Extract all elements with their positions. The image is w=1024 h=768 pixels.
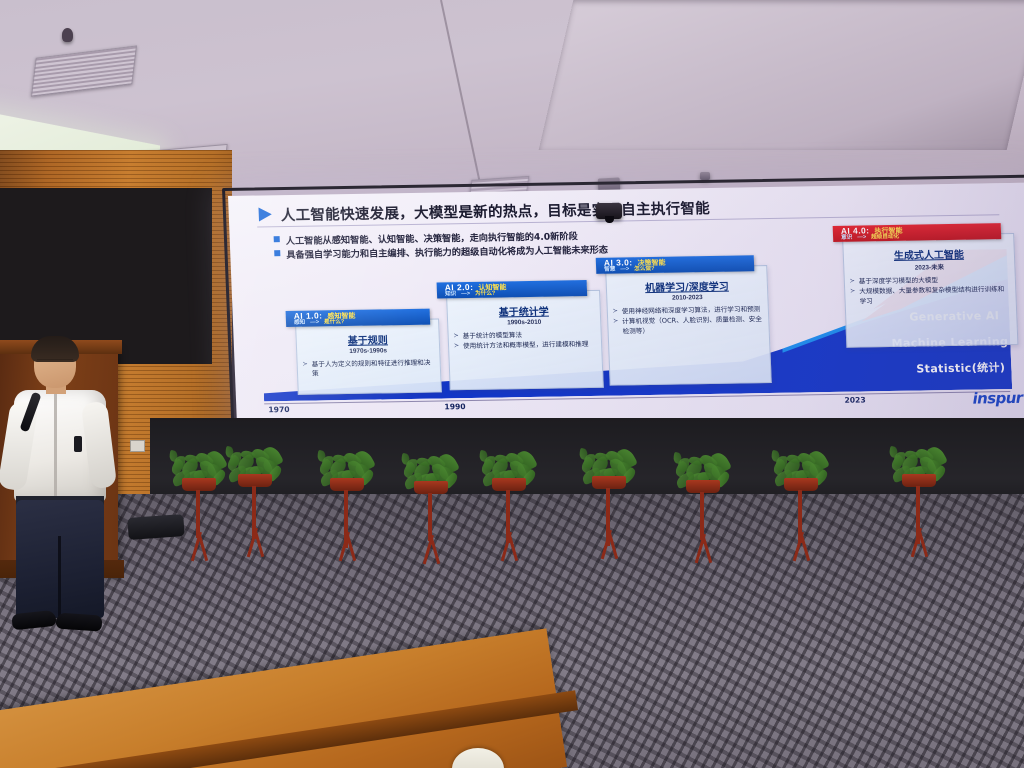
card-2-flow-to: 为什么?	[475, 291, 495, 297]
card-2-flow-arrow-icon: —>	[461, 292, 470, 298]
potted-plant	[770, 452, 832, 562]
card-ai-1-0[interactable]: AI 1.0: 感知智能 感知 —> 是什么? 基于规则 1970s-1990s…	[295, 318, 442, 394]
inspur-logo: inspur	[972, 389, 1023, 408]
card-ai-3-0[interactable]: AI 3.0: 决策智能 智慧 —> 怎么做? 机器学习/深度学习 2010-2…	[605, 265, 772, 386]
presenter-glasses	[37, 359, 73, 367]
band-label-statistic: Statistic(统计)	[916, 359, 1006, 376]
ceiling-drop-panel	[539, 0, 1024, 150]
card-ai-4-0[interactable]: AI 4.0: 执行智能 意识 —> 超级自动化 生成式人工智能 2023-未来…	[842, 233, 1018, 348]
card-3-years: 2010-2023	[607, 293, 767, 303]
ceiling-fixture	[700, 172, 710, 180]
presenter-shoe-right	[55, 612, 102, 631]
wall-outlet	[130, 440, 145, 452]
potted-plant	[888, 448, 950, 558]
card-2-points: 基于统计的模型算法 使用统计方法和概率模型，进行建模和推理	[449, 330, 602, 352]
dark-wall-panel-upper	[0, 188, 212, 364]
presenter	[6, 340, 116, 630]
potted-plant	[400, 455, 462, 565]
card-2-years: 1990s-2010	[448, 318, 600, 328]
card-4-point-2: 大规模数据、大量参数和复杂模型结构进行训练和学习	[859, 285, 1011, 306]
card-1-flow-from: 感知	[294, 320, 305, 326]
shirt-placket	[54, 394, 57, 498]
ceiling-sensor	[62, 28, 73, 42]
axis-tick-2023: 2023	[844, 395, 865, 404]
card-1-header-badge: AI 1.0: 感知智能 感知 —> 是什么?	[286, 309, 431, 327]
card-ai-2-0[interactable]: AI 2.0: 认知智能 知识 —> 为什么? 基于统计学 1990s-2010…	[446, 290, 604, 390]
potted-plant	[478, 452, 540, 562]
card-4-header-badge: AI 4.0: 执行智能 意识 —> 超级自动化	[833, 223, 1002, 242]
card-3-title: 机器学习/深度学习	[607, 277, 768, 295]
card-3-flow-to: 怎么做?	[634, 267, 654, 273]
card-2-point-2: 使用统计方法和概率模型，进行建模和推理	[463, 340, 596, 352]
card-4-flow-arrow-icon: —>	[857, 235, 866, 241]
presenter-shoe-left	[11, 610, 56, 631]
trouser-seam	[58, 536, 61, 618]
card-2-flow-from: 知识	[445, 292, 456, 298]
card-3-flow-arrow-icon: —>	[620, 267, 629, 273]
conference-room-photo: 人工智能快速发展，大模型是新的热点，目标是实现自主执行智能 人工智能从感知智能、…	[0, 0, 1024, 768]
card-2-header-badge: AI 2.0: 认知智能 知识 —> 为什么?	[437, 280, 588, 298]
axis-tick-1990: 1990	[444, 402, 465, 411]
card-4-title: 生成式人工智能	[844, 245, 1015, 263]
card-1-years: 1970s-1990s	[297, 346, 439, 355]
card-1-flow-arrow-icon: —>	[310, 320, 319, 326]
potted-plant	[316, 452, 378, 562]
potted-plant	[224, 448, 286, 558]
axis-tick-1970: 1970	[268, 405, 289, 414]
card-2-title: 基于统计学	[447, 302, 600, 320]
card-1-point-1: 基于人为定义的规则和特征进行推理和决策	[312, 359, 436, 380]
card-1-title: 基于规则	[296, 330, 439, 347]
card-1-points: 基于人为定义的规则和特征进行推理和决策	[298, 358, 441, 379]
led-display[interactable]: 人工智能快速发展，大模型是新的热点，目标是实现自主执行智能 人工智能从感知智能、…	[228, 183, 1024, 434]
card-4-flow-from: 意识	[841, 235, 852, 241]
title-marker-icon	[258, 207, 272, 221]
card-1-flow-to: 是什么?	[324, 320, 344, 326]
ceiling-camera	[596, 203, 622, 219]
card-3-points: 使用神经网络和深度学习算法，进行学习和预测 计算机视觉（OCR、人脸识别、质量检…	[608, 305, 769, 337]
potted-plant	[578, 450, 640, 560]
card-4-years: 2023-未来	[844, 261, 1014, 273]
potted-plant	[168, 452, 230, 562]
presentation-clicker	[74, 436, 82, 452]
card-3-point-2: 计算机视觉（OCR、人脸识别、质量检测、安全检测等）	[622, 315, 764, 336]
card-3-header-badge: AI 3.0: 决策智能 智慧 —> 怎么做?	[596, 255, 755, 274]
card-4-points: 基于深度学习模型的大模型 大规模数据、大量参数和复杂模型结构进行训练和学习	[845, 275, 1016, 307]
card-3-flow-from: 智慧	[604, 267, 615, 273]
card-4-flow-to: 超级自动化	[871, 235, 899, 241]
potted-plant	[672, 454, 734, 564]
